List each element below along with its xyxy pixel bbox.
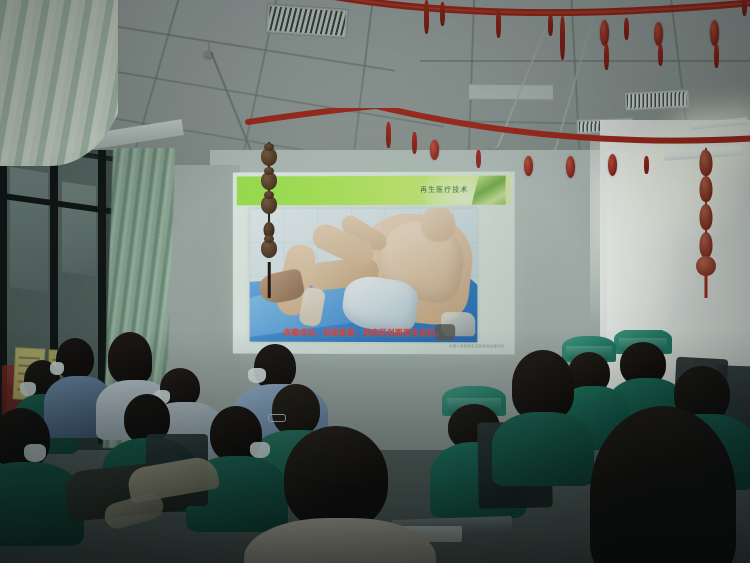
head-long-hair [590, 406, 736, 563]
gourd-ornament-string [258, 142, 280, 312]
vent-louvers [268, 6, 345, 35]
slide-title: 再生医疗技术 [420, 185, 468, 195]
head [0, 408, 50, 470]
gourd-bead [261, 240, 277, 258]
gourd-bead [261, 196, 277, 214]
ornament-knot [696, 256, 716, 276]
gourd-bead [261, 172, 277, 190]
face-mask [24, 444, 46, 462]
attendee-left-front [0, 408, 74, 528]
head-hair [284, 426, 388, 530]
gourd-bead [261, 148, 277, 166]
air-vent-left [265, 3, 349, 39]
audience-area [0, 330, 750, 563]
head-hair [512, 350, 574, 420]
face-mask [50, 362, 64, 375]
attendee-center-front [256, 426, 422, 563]
ornament-bead [700, 150, 713, 176]
hanging-ornament-string [694, 148, 718, 288]
face-mask [20, 382, 36, 396]
gourd-tail [268, 262, 271, 298]
head [56, 338, 94, 380]
torso-jacket [244, 518, 436, 563]
curtain-upper [0, 0, 118, 166]
photo-patient-head [421, 208, 455, 242]
face-mask [248, 368, 266, 383]
head-hair [108, 332, 152, 384]
lecture-room-photo: 再生医疗技术 皮瓣成活，创面修复，供皮区创面再生良好。 [0, 0, 750, 563]
glass-reflection [62, 182, 96, 277]
slide-photo: 皮瓣成活，创面修复，供皮区创面再生良好。 [250, 208, 478, 343]
ceiling-panel-blank [468, 84, 554, 101]
vent-louvers [627, 91, 688, 108]
ornament-bead [700, 176, 713, 202]
air-vent-center [624, 88, 691, 111]
ornament-bead [700, 204, 713, 230]
attendee-right-front [568, 406, 750, 563]
ornament-tail [705, 276, 708, 298]
ornament-bead [700, 232, 713, 258]
curtain-top-region [0, 0, 118, 170]
ceiling-seam [420, 60, 750, 62]
glass-reflection [10, 167, 48, 293]
